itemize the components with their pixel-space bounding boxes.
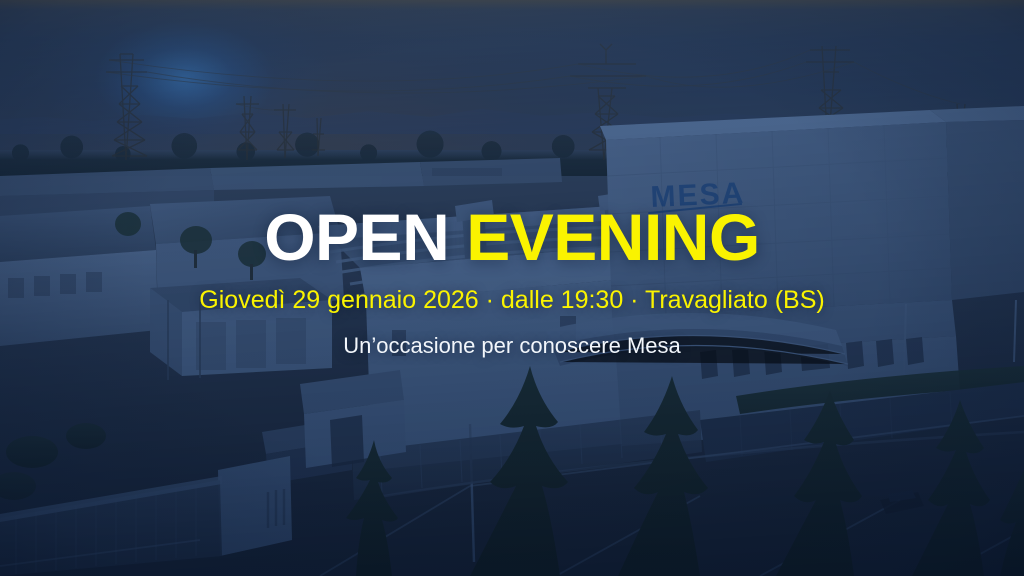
headline-block: OPENEVENING Giovedì 29 gennaio 2026 · da…: [0, 204, 1024, 358]
page-title: OPENEVENING: [0, 204, 1024, 270]
event-tagline: Un’occasione per conoscere Mesa: [0, 333, 1024, 358]
slide-canvas: MESA: [0, 0, 1024, 576]
headline-primary: OPEN: [264, 200, 449, 274]
event-dateline: Giovedì 29 gennaio 2026 · dalle 19:30 · …: [0, 286, 1024, 315]
headline-accent: EVENING: [466, 200, 760, 274]
